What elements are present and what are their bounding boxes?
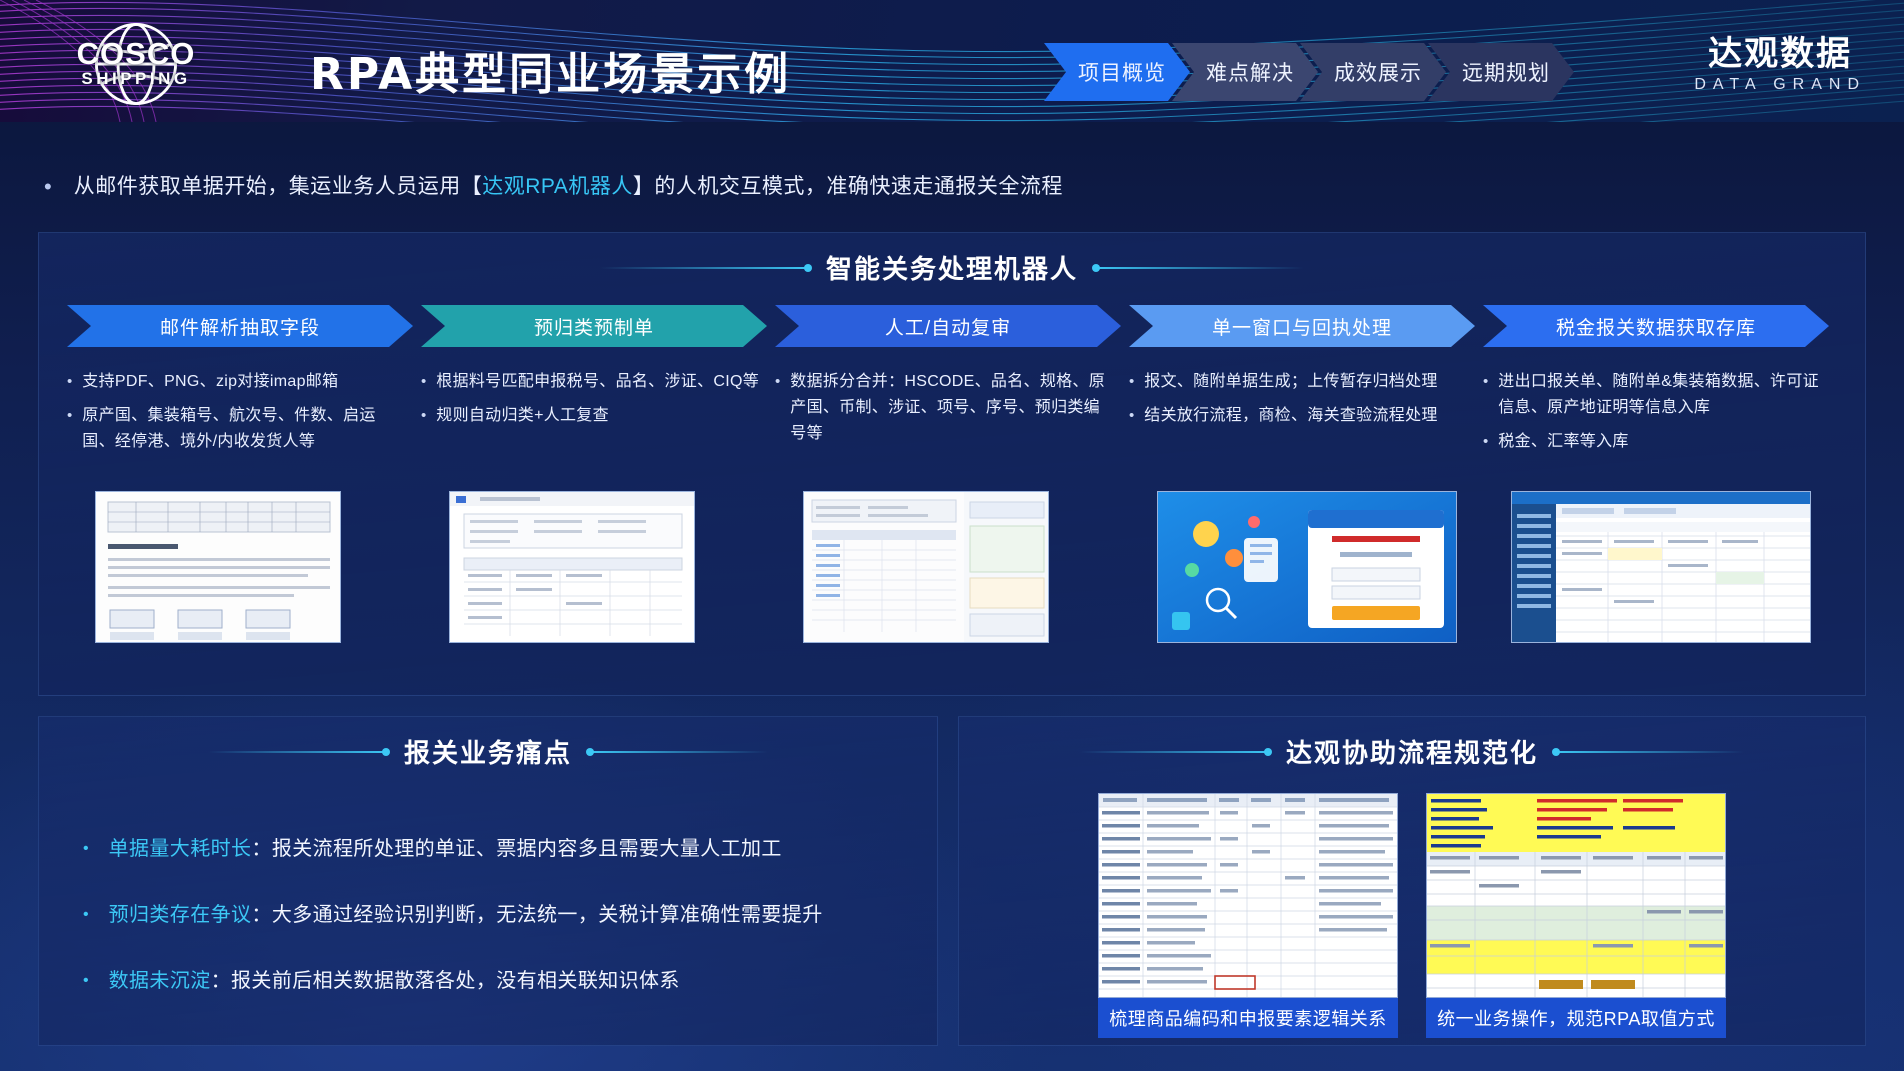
list-item: •原产国、集装箱号、航次号、件数、启运国、经停港、境外/内收发货人等 <box>67 403 407 455</box>
intro-text-part1: 从邮件获取单据开始，集运业务人员运用【 <box>74 175 483 198</box>
thumb-wrap-4 <box>1129 491 1483 643</box>
standardization-title-row: 达观协助流程规范化 <box>959 733 1865 770</box>
single-window-art <box>1158 492 1457 643</box>
list-item: • 单据量大耗时长：报关流程所处理的单证、票据内容多且需要大量人工加工 <box>83 835 913 863</box>
pain-point-1-text: 大多通过经验识别判断，无法统一，关税计算准确性需要提升 <box>272 904 823 926</box>
title-rule-right <box>1094 267 1304 269</box>
pain-point-1: 预归类存在争议：大多通过经验识别判断，无法统一，关税计算准确性需要提升 <box>109 901 823 929</box>
step-2-bullet-1: 规则自动归类+人工复查 <box>436 403 609 429</box>
review-preview-art <box>804 492 1049 643</box>
step-3: 人工/自动复审 •数据拆分合并：HSCODE、品名、规格、原产国、币制、涉证、项… <box>775 305 1129 463</box>
cosco-shipping-logo: COSCO SHIPPING <box>52 26 220 102</box>
step-5-bullet-0: 进出口报关单、随附单&集装箱数据、许可证信息、原产地证明等信息入库 <box>1498 369 1823 421</box>
datagrand-name-en: DATA GRAND <box>1694 74 1866 96</box>
pain-point-0-key: 单据量大耗时长 <box>109 838 252 860</box>
standardization-title: 达观协助流程规范化 <box>1286 733 1538 770</box>
shipping-wordmark: SHIPPING <box>81 69 190 89</box>
customs-data-table-screenshot <box>1511 491 1811 643</box>
step-3-label[interactable]: 人工/自动复审 <box>775 305 1121 347</box>
thumb-wrap-2 <box>421 491 775 643</box>
list-item: •税金、汇率等入库 <box>1483 429 1823 455</box>
list-item: • 预归类存在争议：大多通过经验识别判断，无法统一，关税计算准确性需要提升 <box>83 901 913 929</box>
list-item: •规则自动归类+人工复查 <box>421 403 761 429</box>
step-1-bullets: •支持PDF、PNG、zip对接imap邮箱 •原产国、集装箱号、航次号、件数、… <box>67 369 421 455</box>
nav-tabs[interactable]: 项目概览 难点解决 成效展示 远期规划 <box>1062 43 1574 101</box>
bullet-icon: • <box>421 369 426 395</box>
manual-auto-review-screenshot <box>803 491 1049 643</box>
step-4-bullets: •报文、随附单据生成；上传暂存归档处理 •结关放行流程，商检、海关查验流程处理 <box>1129 369 1483 429</box>
step-thumbnails <box>67 491 1839 643</box>
page-title: RPA典型同业场景示例 <box>310 38 791 102</box>
bullet-icon: • <box>67 369 72 395</box>
top-panel-title-row: 智能关务处理机器人 <box>39 249 1865 286</box>
step-2-bullets: •根据料号匹配申报税号、品名、涉证、CIQ等 •规则自动归类+人工复查 <box>421 369 775 429</box>
title-rule-right <box>588 751 768 753</box>
step-5-bullets: •进出口报关单、随附单&集装箱数据、许可证信息、原产地证明等信息入库 •税金、汇… <box>1483 369 1837 455</box>
pre-classification-form-screenshot <box>449 491 695 643</box>
datagrand-name-cn: 达观数据 <box>1694 34 1866 74</box>
title-rule-right <box>1554 751 1744 753</box>
step-1-label[interactable]: 邮件解析抽取字段 <box>67 305 413 347</box>
pain-point-2-sep: ： <box>211 970 231 992</box>
pain-point-1-key: 预归类存在争议 <box>109 904 252 926</box>
process-steps: 邮件解析抽取字段 •支持PDF、PNG、zip对接imap邮箱 •原产国、集装箱… <box>67 305 1839 463</box>
list-item: •数据拆分合并：HSCODE、品名、规格、原产国、币制、涉证、项号、序号、预归类… <box>775 369 1115 447</box>
tab-long-term-plan[interactable]: 远期规划 <box>1428 43 1574 101</box>
email-parse-document-screenshot <box>95 491 341 643</box>
top-panel-title: 智能关务处理机器人 <box>826 249 1078 286</box>
list-item: •结关放行流程，商检、海关查验流程处理 <box>1129 403 1469 429</box>
bullet-icon: • <box>421 403 426 429</box>
list-item: •根据料号匹配申报税号、品名、涉证、CIQ等 <box>421 369 761 395</box>
list-item: •报文、随附单据生成；上传暂存归档处理 <box>1129 369 1469 395</box>
thumb-wrap-3 <box>775 491 1129 643</box>
intro-text-part2: 】的人机交互模式，准确快速走通报关全流程 <box>633 175 1063 198</box>
shot-2-caption: 统一业务操作，规范RPA取值方式 <box>1426 998 1726 1038</box>
top-panel: 智能关务处理机器人 邮件解析抽取字段 •支持PDF、PNG、zip对接imap邮… <box>38 232 1866 696</box>
step-1: 邮件解析抽取字段 •支持PDF、PNG、zip对接imap邮箱 •原产国、集装箱… <box>67 305 421 463</box>
bullet-icon: • <box>83 901 89 929</box>
bullet-icon: • <box>83 967 89 995</box>
pain-point-0-text: 报关流程所处理的单证、票据内容多且需要大量人工加工 <box>272 838 782 860</box>
intro-text: 从邮件获取单据开始，集运业务人员运用【达观RPA机器人】的人机交互模式，准确快速… <box>74 172 1063 202</box>
list-item: •支持PDF、PNG、zip对接imap邮箱 <box>67 369 407 395</box>
step-1-bullet-1: 原产国、集装箱号、航次号、件数、启运国、经停港、境外/内收发货人等 <box>82 403 407 455</box>
step-5-label[interactable]: 税金报关数据获取存库 <box>1483 305 1829 347</box>
bullet-icon: • <box>44 172 52 202</box>
pain-points-title: 报关业务痛点 <box>404 733 572 770</box>
bullet-icon: • <box>775 369 780 447</box>
step-5: 税金报关数据获取存库 •进出口报关单、随附单&集装箱数据、许可证信息、原产地证明… <box>1483 305 1837 463</box>
shot-2: 统一业务操作，规范RPA取值方式 <box>1426 793 1726 1038</box>
step-3-bullets: •数据拆分合并：HSCODE、品名、规格、原产国、币制、涉证、项号、序号、预归类… <box>775 369 1129 447</box>
rpa-value-rules-screenshot <box>1426 793 1726 998</box>
title-rule-left <box>208 751 388 753</box>
standardization-screenshots: 梳理商品编码和申报要素逻辑关系 <box>959 793 1865 1038</box>
pain-point-0-sep: ： <box>251 838 271 860</box>
pain-points-list: • 单据量大耗时长：报关流程所处理的单证、票据内容多且需要大量人工加工 • 预归… <box>83 835 913 1033</box>
pain-point-0: 单据量大耗时长：报关流程所处理的单证、票据内容多且需要大量人工加工 <box>109 835 782 863</box>
step-4-bullet-1: 结关放行流程，商检、海关查验流程处理 <box>1144 403 1437 429</box>
rpa-rules-art <box>1427 794 1726 998</box>
standardization-panel: 达观协助流程规范化 <box>958 716 1866 1046</box>
shot-1: 梳理商品编码和申报要素逻辑关系 <box>1098 793 1398 1038</box>
step-4-bullet-0: 报文、随附单据生成；上传暂存归档处理 <box>1144 369 1437 395</box>
step-4: 单一窗口与回执处理 •报文、随附单据生成；上传暂存归档处理 •结关放行流程，商检… <box>1129 305 1483 463</box>
step-4-label[interactable]: 单一窗口与回执处理 <box>1129 305 1475 347</box>
bullet-icon: • <box>1483 429 1488 455</box>
thumb-wrap-1 <box>67 491 421 643</box>
customs-table-art <box>1512 492 1811 643</box>
bullet-icon: • <box>1129 403 1134 429</box>
tab-results-display[interactable]: 成效展示 <box>1300 43 1446 101</box>
shot-1-caption: 梳理商品编码和申报要素逻辑关系 <box>1098 998 1398 1038</box>
form-preview-art <box>450 492 695 643</box>
pain-point-1-sep: ： <box>251 904 271 926</box>
tab-project-overview[interactable]: 项目概览 <box>1044 43 1190 101</box>
pain-point-2-text: 报关前后相关数据散落各处，没有相关联知识体系 <box>231 970 680 992</box>
title-rule-left <box>1080 751 1270 753</box>
step-2: 预归类预制单 •根据料号匹配申报税号、品名、涉证、CIQ等 •规则自动归类+人工… <box>421 305 775 463</box>
list-item: • 数据未沉淀：报关前后相关数据散落各处，没有相关联知识体系 <box>83 967 913 995</box>
step-3-bullet-0: 数据拆分合并：HSCODE、品名、规格、原产国、币制、涉证、项号、序号、预归类编… <box>790 369 1115 447</box>
title-rule-left <box>600 267 810 269</box>
header-wave-decoration <box>0 0 1904 122</box>
slide-root: COSCO SHIPPING RPA典型同业场景示例 项目概览 难点解决 成效展… <box>0 0 1904 1071</box>
single-window-login-screenshot <box>1157 491 1457 643</box>
datagrand-logo: 达观数据 DATA GRAND <box>1694 34 1866 96</box>
bullet-icon: • <box>67 403 72 455</box>
pain-point-2-key: 数据未沉淀 <box>109 970 211 992</box>
list-item: •进出口报关单、随附单&集装箱数据、许可证信息、原产地证明等信息入库 <box>1483 369 1823 421</box>
step-1-bullet-0: 支持PDF、PNG、zip对接imap邮箱 <box>82 369 338 395</box>
doc-preview-art <box>96 492 341 643</box>
bullet-icon: • <box>1483 369 1488 421</box>
slide-header: COSCO SHIPPING RPA典型同业场景示例 项目概览 难点解决 成效展… <box>0 0 1904 122</box>
intro-highlight: 达观RPA机器人 <box>482 175 633 198</box>
tab-difficulty-solving[interactable]: 难点解决 <box>1172 43 1318 101</box>
commodity-table-art <box>1099 794 1398 998</box>
thumb-wrap-5 <box>1483 491 1837 643</box>
pain-points-title-row: 报关业务痛点 <box>39 733 937 770</box>
commodity-code-table-screenshot <box>1098 793 1398 998</box>
step-2-bullet-0: 根据料号匹配申报税号、品名、涉证、CIQ等 <box>436 369 759 395</box>
cosco-wordmark: COSCO <box>77 39 196 69</box>
bullet-icon: • <box>1129 369 1134 395</box>
pain-points-panel: 报关业务痛点 • 单据量大耗时长：报关流程所处理的单证、票据内容多且需要大量人工… <box>38 716 938 1046</box>
pain-point-2: 数据未沉淀：报关前后相关数据散落各处，没有相关联知识体系 <box>109 967 680 995</box>
intro-bullet: • 从邮件获取单据开始，集运业务人员运用【达观RPA机器人】的人机交互模式，准确… <box>44 172 1444 202</box>
step-2-label[interactable]: 预归类预制单 <box>421 305 767 347</box>
step-5-bullet-1: 税金、汇率等入库 <box>1498 429 1628 455</box>
bullet-icon: • <box>83 835 89 863</box>
